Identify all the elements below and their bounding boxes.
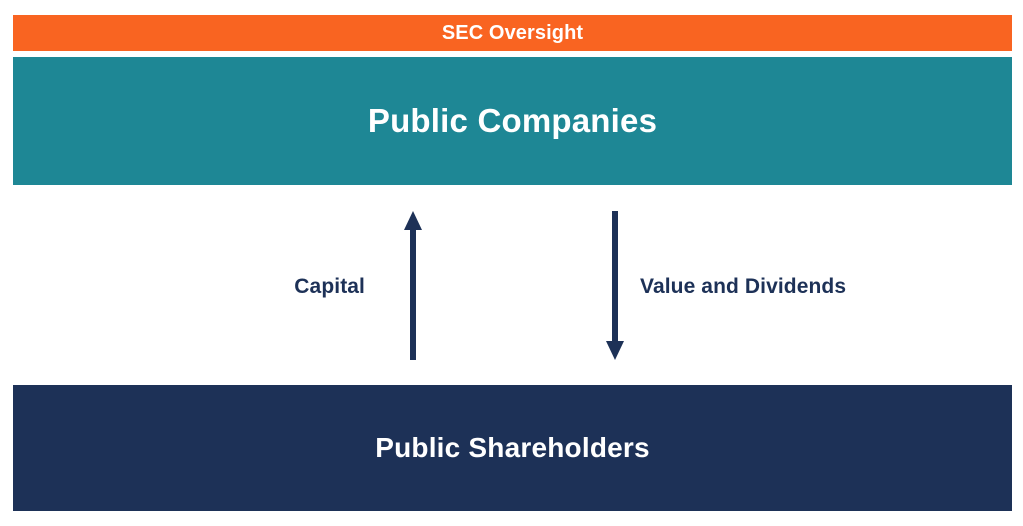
flow-region: Capital Value and Dividends <box>0 185 1023 385</box>
public-shareholders-band: Public Shareholders <box>13 385 1012 511</box>
sec-oversight-label: SEC Oversight <box>442 22 583 44</box>
diagram-canvas: SEC Oversight Public Companies Capital V… <box>0 0 1023 526</box>
value-dividends-arrow-down-icon <box>595 185 635 385</box>
value-and-dividends-flow-label: Value and Dividends <box>640 276 846 297</box>
capital-arrow-up-icon <box>393 185 433 385</box>
sec-oversight-band: SEC Oversight <box>13 15 1012 51</box>
public-companies-label: Public Companies <box>368 103 657 139</box>
capital-flow-label: Capital <box>294 276 365 297</box>
public-companies-band: Public Companies <box>13 57 1012 185</box>
public-shareholders-label: Public Shareholders <box>375 433 650 464</box>
